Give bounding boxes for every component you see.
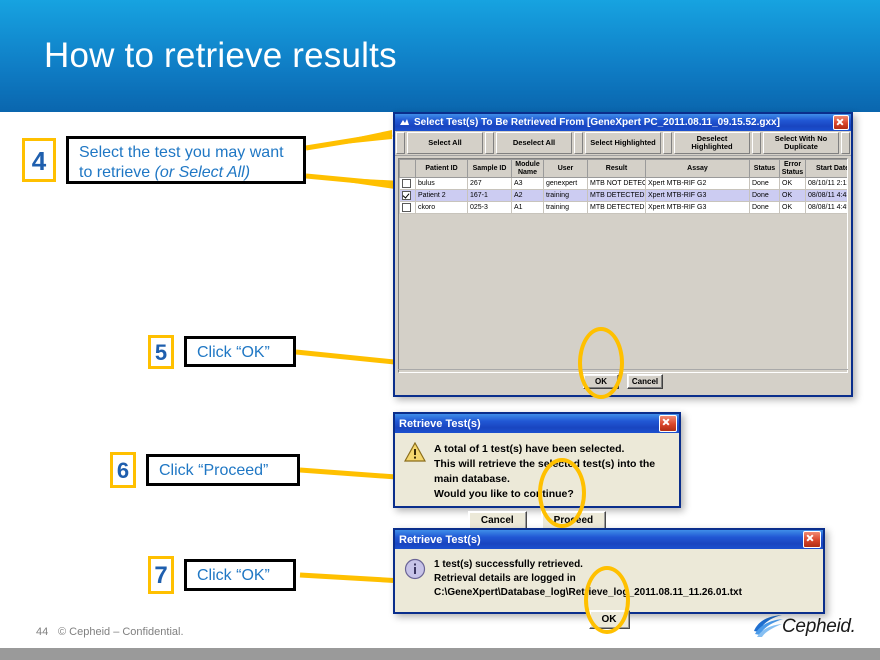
- tests-table: Patient ID Sample ID Module Name User Re…: [399, 159, 848, 214]
- cell-status: Done: [750, 202, 780, 214]
- toolbar-spacer-right: [841, 132, 850, 154]
- step-number-4: 4: [22, 138, 56, 182]
- cell-assay: Xpert MTB-RIF G2: [646, 178, 750, 190]
- col-assay[interactable]: Assay: [646, 160, 750, 178]
- cell-user: genexpert: [544, 178, 588, 190]
- cell-sample-id: 267: [468, 178, 512, 190]
- retrieve-success-title-text: Retrieve Test(s): [399, 534, 803, 546]
- app-icon: [399, 117, 410, 128]
- cancel-button[interactable]: Cancel: [468, 511, 527, 530]
- arrow-step4-top: [306, 130, 392, 148]
- cell-sample-id: 167-1: [468, 190, 512, 202]
- toolbar-spacer-2: [574, 132, 583, 154]
- retrieve-confirm-dialog: Retrieve Test(s) A total of 1 test(s) ha…: [393, 412, 681, 508]
- col-status[interactable]: Status: [750, 160, 780, 178]
- retrieve-confirm-titlebar: Retrieve Test(s): [395, 414, 679, 433]
- callout-step-4-line2-italic: (or Select All): [155, 164, 250, 181]
- select-tests-titlebar: Select Test(s) To Be Retrieved From [Gen…: [395, 114, 851, 131]
- close-icon[interactable]: [803, 531, 821, 548]
- col-result[interactable]: Result: [588, 160, 646, 178]
- info-icon-wrap: [404, 558, 434, 601]
- row-checkbox[interactable]: [402, 191, 411, 200]
- info-icon: [404, 558, 426, 580]
- toolbar-spacer-3: [663, 132, 672, 154]
- toolbar-deselect-all-button[interactable]: Deselect All: [496, 132, 572, 154]
- col-error-status[interactable]: Error Status: [780, 160, 806, 178]
- callout-step-4-line1: Select the test you may want: [79, 143, 293, 163]
- callout-step-7: Click “OK”: [184, 559, 296, 591]
- cell-start-date: 08/10/11 2:12:24 PM: [806, 178, 849, 190]
- toolbar-select-highlighted-button[interactable]: Select Highlighted: [585, 132, 661, 154]
- row-checkbox-cell[interactable]: [400, 190, 416, 202]
- row-checkbox[interactable]: [402, 203, 411, 212]
- cell-status: Done: [750, 178, 780, 190]
- step-number-7: 7: [148, 556, 174, 594]
- callout-step-4-line2-plain: to retrieve: [79, 164, 155, 181]
- cell-status: Done: [750, 190, 780, 202]
- cell-user: training: [544, 202, 588, 214]
- callout-step-4: Select the test you may want to retrieve…: [66, 136, 306, 184]
- toolbar-spacer-4: [752, 132, 761, 154]
- footer-page-number: 44: [36, 626, 48, 638]
- toolbar-spacer-left: [396, 132, 405, 154]
- col-patient-id[interactable]: Patient ID: [416, 160, 468, 178]
- cell-module-name: A1: [512, 202, 544, 214]
- row-checkbox-cell[interactable]: [400, 178, 416, 190]
- cell-start-date: 08/08/11 4:43:10 PM: [806, 190, 849, 202]
- callout-step-5: Click “OK”: [184, 336, 296, 367]
- cell-result: MTB NOT DETECTED: [588, 178, 646, 190]
- step-number-5: 5: [148, 335, 174, 369]
- col-start-date[interactable]: Start Date: [806, 160, 849, 178]
- cell-patient-id: ckoro: [416, 202, 468, 214]
- cell-patient-id: Patient 2: [416, 190, 468, 202]
- retrieve-confirm-title-text: Retrieve Test(s): [399, 418, 659, 430]
- page-title: How to retrieve results: [44, 36, 397, 76]
- tests-list[interactable]: Patient ID Sample ID Module Name User Re…: [398, 158, 848, 373]
- cell-sample-id: 025-3: [468, 202, 512, 214]
- close-icon[interactable]: [833, 115, 849, 130]
- callout-step-6: Click “Proceed”: [146, 454, 300, 486]
- retrieve-confirm-button-row: Cancel Proceed: [395, 511, 679, 530]
- slide: How to retrieve results 44 © Cepheid – C…: [0, 0, 880, 660]
- step-number-6: 6: [110, 452, 136, 488]
- cancel-button[interactable]: Cancel: [627, 374, 663, 389]
- cell-error-status: OK: [780, 190, 806, 202]
- col-module-name[interactable]: Module Name: [512, 160, 544, 178]
- warning-icon-wrap: [404, 442, 434, 502]
- toolbar-deselect-highlighted-button[interactable]: Deselect Highlighted: [674, 132, 750, 154]
- table-row[interactable]: bulus 267 A3 genexpert MTB NOT DETECTED …: [400, 178, 849, 190]
- cell-assay: Xpert MTB-RIF G3: [646, 202, 750, 214]
- arrow-step4-bottom: [306, 176, 402, 190]
- col-sample-id[interactable]: Sample ID: [468, 160, 512, 178]
- footer-copyright: © Cepheid – Confidential.: [58, 626, 184, 638]
- cell-patient-id: bulus: [416, 178, 468, 190]
- cell-error-status: OK: [780, 178, 806, 190]
- cell-user: training: [544, 190, 588, 202]
- cell-result: MTB DETECTED: [588, 190, 646, 202]
- col-checkbox: [400, 160, 416, 178]
- highlight-ellipse-proceed: [538, 458, 586, 528]
- highlight-ellipse-ok-select: [578, 327, 624, 399]
- cell-error-status: OK: [780, 202, 806, 214]
- footer-band: [0, 648, 880, 660]
- cell-start-date: 08/08/11 4:45:21 PM: [806, 202, 849, 214]
- callout-step-4-line2: to retrieve (or Select All): [79, 163, 293, 183]
- cell-module-name: A3: [512, 178, 544, 190]
- toolbar-spacer-1: [485, 132, 494, 154]
- retrieve-confirm-line1: A total of 1 test(s) have been selected.: [434, 442, 671, 457]
- cell-module-name: A2: [512, 190, 544, 202]
- highlight-ellipse-ok-success: [584, 566, 630, 634]
- retrieve-success-titlebar: Retrieve Test(s): [395, 530, 823, 549]
- toolbar-select-with-no-duplicate-button[interactable]: Select With No Duplicate: [763, 132, 839, 154]
- table-row[interactable]: ckoro 025-3 A1 training MTB DETECTED Xpe…: [400, 202, 849, 214]
- tests-table-header-row: Patient ID Sample ID Module Name User Re…: [400, 160, 849, 178]
- close-icon[interactable]: [659, 415, 677, 432]
- retrieve-success-line1: 1 test(s) successfully retrieved.: [434, 558, 815, 572]
- warning-icon: [404, 442, 426, 462]
- row-checkbox[interactable]: [402, 179, 411, 188]
- toolbar-select-all-button[interactable]: Select All: [407, 132, 483, 154]
- select-tests-toolbar: Select All Deselect All Select Highlight…: [395, 131, 851, 156]
- retrieve-confirm-body: A total of 1 test(s) have been selected.…: [395, 433, 679, 502]
- row-checkbox-cell[interactable]: [400, 202, 416, 214]
- cell-assay: Xpert MTB-RIF G3: [646, 190, 750, 202]
- select-tests-title-text: Select Test(s) To Be Retrieved From [Gen…: [414, 117, 833, 128]
- cell-result: MTB DETECTED: [588, 202, 646, 214]
- table-row[interactable]: Patient 2 167-1 A2 training MTB DETECTED…: [400, 190, 849, 202]
- col-user[interactable]: User: [544, 160, 588, 178]
